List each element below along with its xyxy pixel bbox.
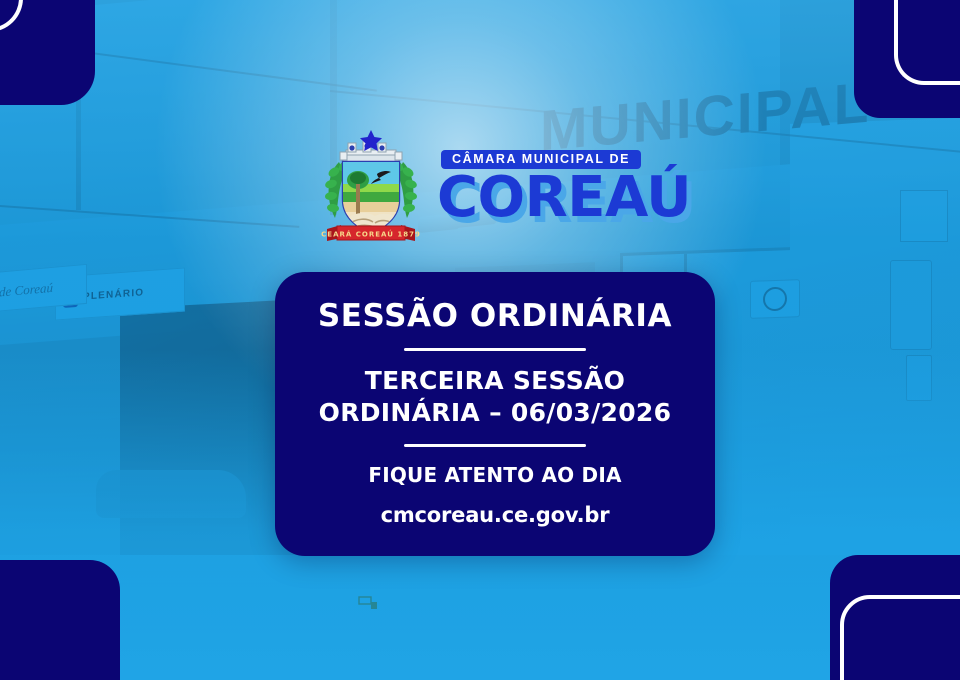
announcement-poster: MUNICIPAL PLENÁRIO de Coreaú [0,0,960,680]
corner-line-bottom-right [840,595,960,680]
corner-line-top-right [894,0,960,85]
logo: CEARÁ COREAÚ 1879 CÂMARA MUNICIPAL DE CO… [0,128,960,246]
card-subtitle-line2: ORDINÁRIA – 06/03/2026 [319,397,672,429]
card-website-url: cmcoreau.ce.gov.br [381,503,610,527]
announcement-card: SESSÃO ORDINÁRIA TERCEIRA SESSÃO ORDINÁR… [275,272,715,556]
logo-coreau-wordmark: COREAÚ COREAÚ [437,167,641,229]
divider-bottom [404,444,586,447]
divider-top [404,348,586,351]
logo-wordmark: CÂMARA MUNICIPAL DE COREAÚ COREAÚ [437,150,641,229]
card-subtitle-line1: TERCEIRA SESSÃO [319,365,672,397]
corner-shape-bottom-left [0,560,120,680]
logo-coreau-text: COREAÚ [437,167,691,229]
svg-text:CEARÁ COREAÚ 1879: CEARÁ COREAÚ 1879 [321,229,421,238]
coat-of-arms-icon: CEARÁ COREAÚ 1879 [319,128,423,246]
card-subtitle: TERCEIRA SESSÃO ORDINÁRIA – 06/03/2026 [319,365,672,429]
card-title: SESSÃO ORDINÁRIA [318,300,672,333]
card-note: FIQUE ATENTO AO DIA [368,463,621,487]
watermark-icon [358,594,380,610]
